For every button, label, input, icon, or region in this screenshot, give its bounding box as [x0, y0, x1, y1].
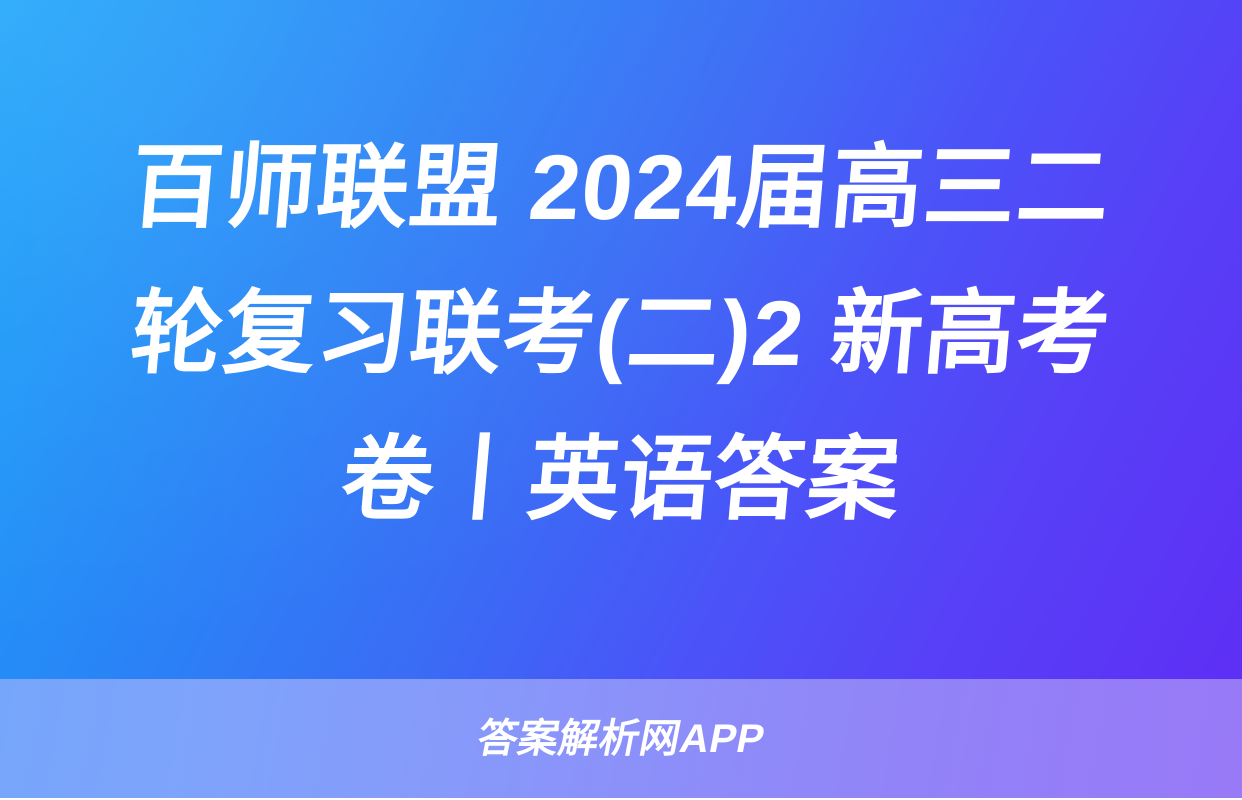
poster-title: 百师联盟 2024届高三二 轮复习联考(二)2 新高考 卷丨英语答案 — [0, 0, 1242, 679]
app-watermark-banner: 答案解析网APP — [0, 679, 1242, 798]
app-watermark-label: 答案解析网APP — [474, 719, 768, 759]
title-line-2: 轮复习联考(二)2 新高考 — [125, 261, 1117, 407]
title-line-3: 卷丨英语答案 — [336, 407, 907, 553]
poster-image: 百师联盟 2024届高三二 轮复习联考(二)2 新高考 卷丨英语答案 答案解析网… — [0, 0, 1242, 800]
title-line-1: 百师联盟 2024届高三二 — [125, 115, 1117, 261]
